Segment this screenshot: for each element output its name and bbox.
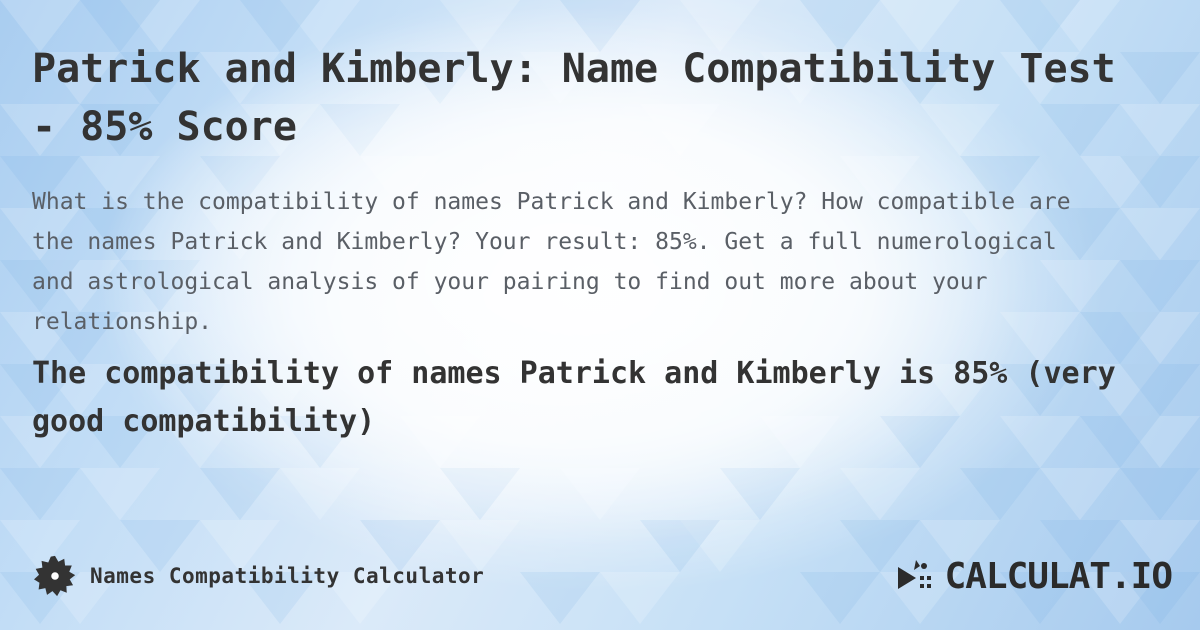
brand-name: CALCULAT.IO: [945, 556, 1172, 597]
calculatio-logo-icon-svg: [896, 558, 936, 596]
footer-label: Names Compatibility Calculator: [90, 564, 484, 588]
page-description: What is the compatibility of names Patri…: [32, 182, 1112, 342]
page-content: Patrick and Kimberly: Name Compatibility…: [0, 0, 1200, 630]
compatibility-result-headline: The compatibility of names Patrick and K…: [32, 350, 1172, 446]
calculatio-brand: CALCULAT.IO: [896, 556, 1172, 597]
page-title: Patrick and Kimberly: Name Compatibility…: [32, 40, 1142, 156]
star-burst-icon: [34, 555, 76, 597]
star-burst-icon-svg: [34, 555, 76, 597]
footer-brand-group: Names Compatibility Calculator: [34, 555, 484, 597]
calculatio-logo-icon: [896, 558, 936, 596]
